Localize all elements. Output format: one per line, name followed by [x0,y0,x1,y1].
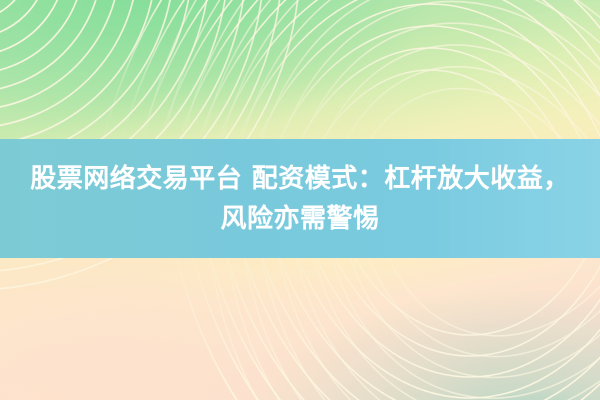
title-band: 股票网络交易平台 配资模式：杠杆放大收益，风险亦需警惕 [0,139,600,258]
banner-image: 股票网络交易平台 配资模式：杠杆放大收益，风险亦需警惕 [0,0,600,400]
page-title: 股票网络交易平台 配资模式：杠杆放大收益，风险亦需警惕 [22,159,578,239]
